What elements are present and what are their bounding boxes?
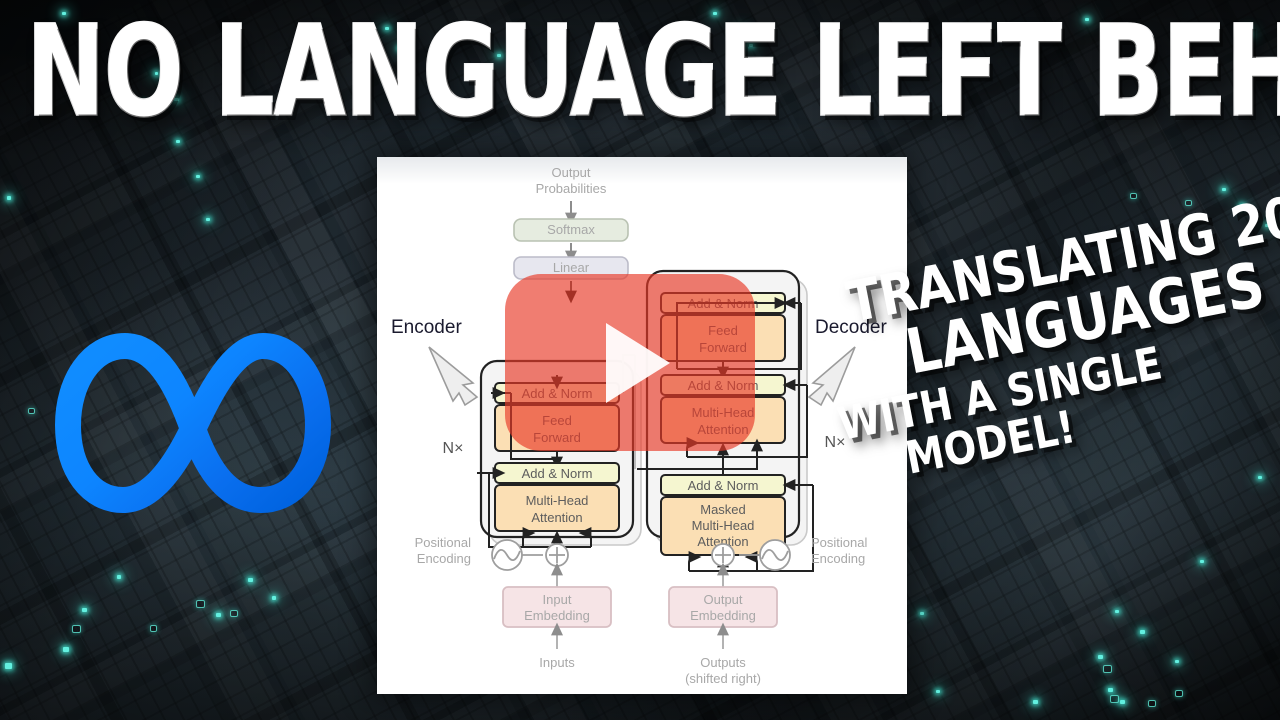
outputs-line2: (shifted right) — [685, 671, 761, 686]
led-dot — [1098, 655, 1103, 659]
output-probabilities-line2: Probabilities — [536, 181, 607, 196]
led-dot — [216, 613, 221, 617]
led-ring — [1148, 700, 1156, 707]
encoder-callout: Encoder — [391, 317, 477, 405]
encoder-label: Encoder — [391, 317, 462, 338]
thumbnail-canvas: NO LANGUAGE LEFT BEHIND — [0, 0, 1280, 720]
led-ring — [1130, 193, 1137, 199]
softmax-label: Softmax — [547, 222, 595, 237]
page-title-text: NO LANGUAGE LEFT BEHIND — [27, 10, 1280, 135]
add-norm-label: Add & Norm — [688, 478, 759, 493]
led-dot — [196, 175, 200, 178]
meta-infinity-logo — [48, 326, 338, 516]
led-dot — [1108, 688, 1113, 692]
inputs-label: Inputs — [539, 655, 575, 670]
led-dot — [82, 608, 87, 612]
led-dot — [1222, 188, 1226, 191]
play-triangle-icon — [606, 323, 670, 403]
led-dot — [1140, 630, 1145, 634]
led-dot — [117, 575, 121, 579]
multi-head-line1: Multi-Head — [526, 493, 589, 508]
led-ring — [1103, 665, 1112, 673]
output-embedding-line1: Output — [703, 592, 742, 607]
meta-infinity-icon — [48, 326, 338, 516]
led-ring — [28, 408, 35, 414]
led-ring — [230, 610, 238, 617]
page-title: NO LANGUAGE LEFT BEHIND — [0, 10, 1280, 135]
led-dot — [1120, 700, 1125, 704]
outputs-line1: Outputs — [700, 655, 746, 670]
positional-encoding-line1: Positional — [811, 535, 867, 550]
led-dot — [1033, 700, 1038, 704]
play-button[interactable] — [505, 274, 755, 451]
linear-label: Linear — [553, 260, 590, 275]
led-dot — [1200, 560, 1204, 563]
led-dot — [5, 663, 12, 669]
input-embedding-box: Input Embedding — [503, 587, 611, 627]
led-ring — [72, 625, 81, 633]
led-dot — [936, 690, 940, 693]
masked-line1: Masked — [700, 502, 746, 517]
led-dot — [920, 612, 924, 615]
positional-encoding-line1: Positional — [415, 535, 471, 550]
output-probabilities-line1: Output — [551, 165, 590, 180]
led-dot — [206, 218, 210, 221]
positional-encoding-line2: Encoding — [417, 551, 471, 566]
input-embedding-line2: Embedding — [524, 608, 590, 623]
multi-head-line2: Attention — [531, 510, 582, 525]
led-ring — [150, 625, 157, 632]
led-dot — [1175, 660, 1179, 663]
nx-encoder-label: N× — [443, 440, 464, 457]
led-dot — [1115, 610, 1119, 613]
output-embedding-box: Output Embedding — [669, 587, 777, 627]
led-dot — [272, 596, 276, 600]
positional-encoding-line2: Encoding — [811, 551, 865, 566]
led-ring — [1110, 695, 1119, 703]
led-dot — [7, 196, 11, 200]
input-embedding-line1: Input — [543, 592, 572, 607]
output-embedding-line2: Embedding — [690, 608, 756, 623]
led-dot — [248, 578, 253, 582]
led-ring — [1175, 690, 1183, 697]
led-ring — [196, 600, 205, 608]
decoder-add-norm-bottom: Add & Norm — [661, 475, 785, 495]
encoder-add-norm-bottom: Add & Norm — [495, 463, 619, 483]
add-norm-label: Add & Norm — [522, 466, 593, 481]
encoder-multi-head-attention: Multi-Head Attention — [495, 485, 619, 531]
led-dot — [63, 647, 69, 652]
overlay-tagline: TRANSLATING 200 LANGUAGES WITH A SINGLE … — [852, 201, 1280, 601]
softmax-box: Softmax — [514, 219, 628, 241]
masked-line2: Multi-Head — [692, 518, 755, 533]
output-probabilities-group: Output Probabilities — [536, 165, 607, 219]
